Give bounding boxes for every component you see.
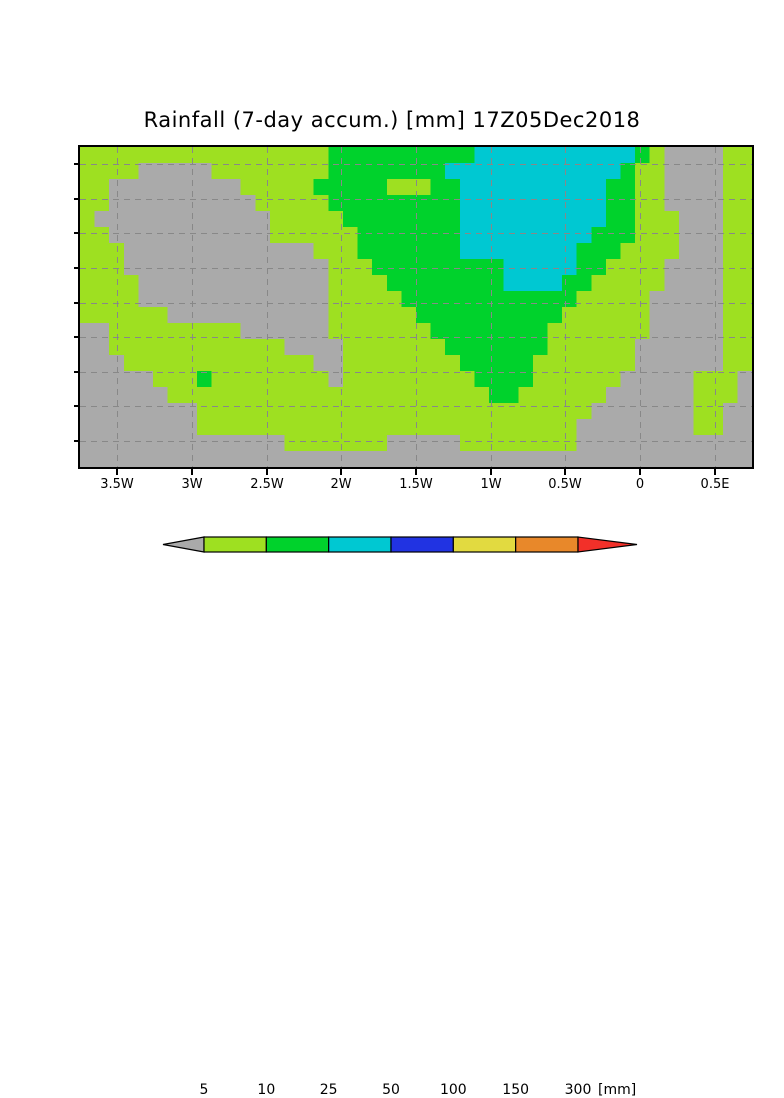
y-axis-tick	[74, 198, 80, 200]
x-axis-tick	[415, 469, 417, 475]
y-axis-tick	[74, 232, 80, 234]
x-axis-tick	[714, 469, 716, 475]
colorbar-tick-label: 100	[418, 1082, 488, 1098]
rainfall-raster-canvas	[80, 147, 752, 467]
colorbar-band	[266, 537, 328, 552]
x-axis-tick-label: 0.5E	[685, 477, 745, 492]
colorbar-band	[453, 537, 515, 552]
y-axis-tick	[74, 405, 80, 407]
x-axis-tick-label: 0.5W	[535, 477, 595, 492]
x-axis-tick-label: 1.5W	[386, 477, 446, 492]
colorbar: 5102550100150300 [mm]	[0, 528, 784, 588]
x-axis-tick-label: 2W	[311, 477, 371, 492]
colorbar-tick-label: 10	[231, 1082, 301, 1098]
x-axis-tick	[564, 469, 566, 475]
colorbar-band	[329, 537, 391, 552]
colorbar-band	[516, 537, 578, 552]
x-axis-tick-label: 3.5W	[87, 477, 147, 492]
colorbar-band	[204, 537, 266, 552]
x-axis-tick	[639, 469, 641, 475]
x-axis-tick-label: 0	[610, 477, 670, 492]
colorbar-extend-right	[578, 537, 637, 552]
colorbar-tick-label: 150	[481, 1082, 551, 1098]
y-axis-tick	[74, 336, 80, 338]
colorbar-unit-label: [mm]	[598, 1082, 636, 1098]
rainfall-map-figure: Rainfall (7-day accum.) [mm] 17Z05Dec201…	[0, 0, 784, 612]
y-axis-tick	[74, 267, 80, 269]
colorbar-tick-label: 25	[294, 1082, 364, 1098]
y-axis-tick	[74, 163, 80, 165]
colorbar-band	[391, 537, 453, 552]
x-axis-tick	[340, 469, 342, 475]
y-axis-tick	[74, 371, 80, 373]
plot-area: 1.6S1.8S2S2.2S2.4S2.6S2.8S3S3.2S 3.5W3W2…	[78, 145, 754, 469]
x-axis-tick	[490, 469, 492, 475]
x-axis-tick	[116, 469, 118, 475]
colorbar-tick-label: 5	[169, 1082, 239, 1098]
rainfall-raster	[80, 147, 752, 467]
x-axis-tick-label: 1W	[461, 477, 521, 492]
y-axis-tick	[74, 302, 80, 304]
colorbar-tick-label: 50	[356, 1082, 426, 1098]
y-axis-tick	[74, 440, 80, 442]
colorbar-extend-left	[163, 537, 204, 552]
chart-title: Rainfall (7-day accum.) [mm] 17Z05Dec201…	[0, 108, 784, 132]
x-axis-tick-label: 3W	[162, 477, 222, 492]
x-axis-tick	[191, 469, 193, 475]
x-axis-tick	[266, 469, 268, 475]
x-axis-tick-label: 2.5W	[237, 477, 297, 492]
colorbar-swatches	[0, 528, 784, 558]
